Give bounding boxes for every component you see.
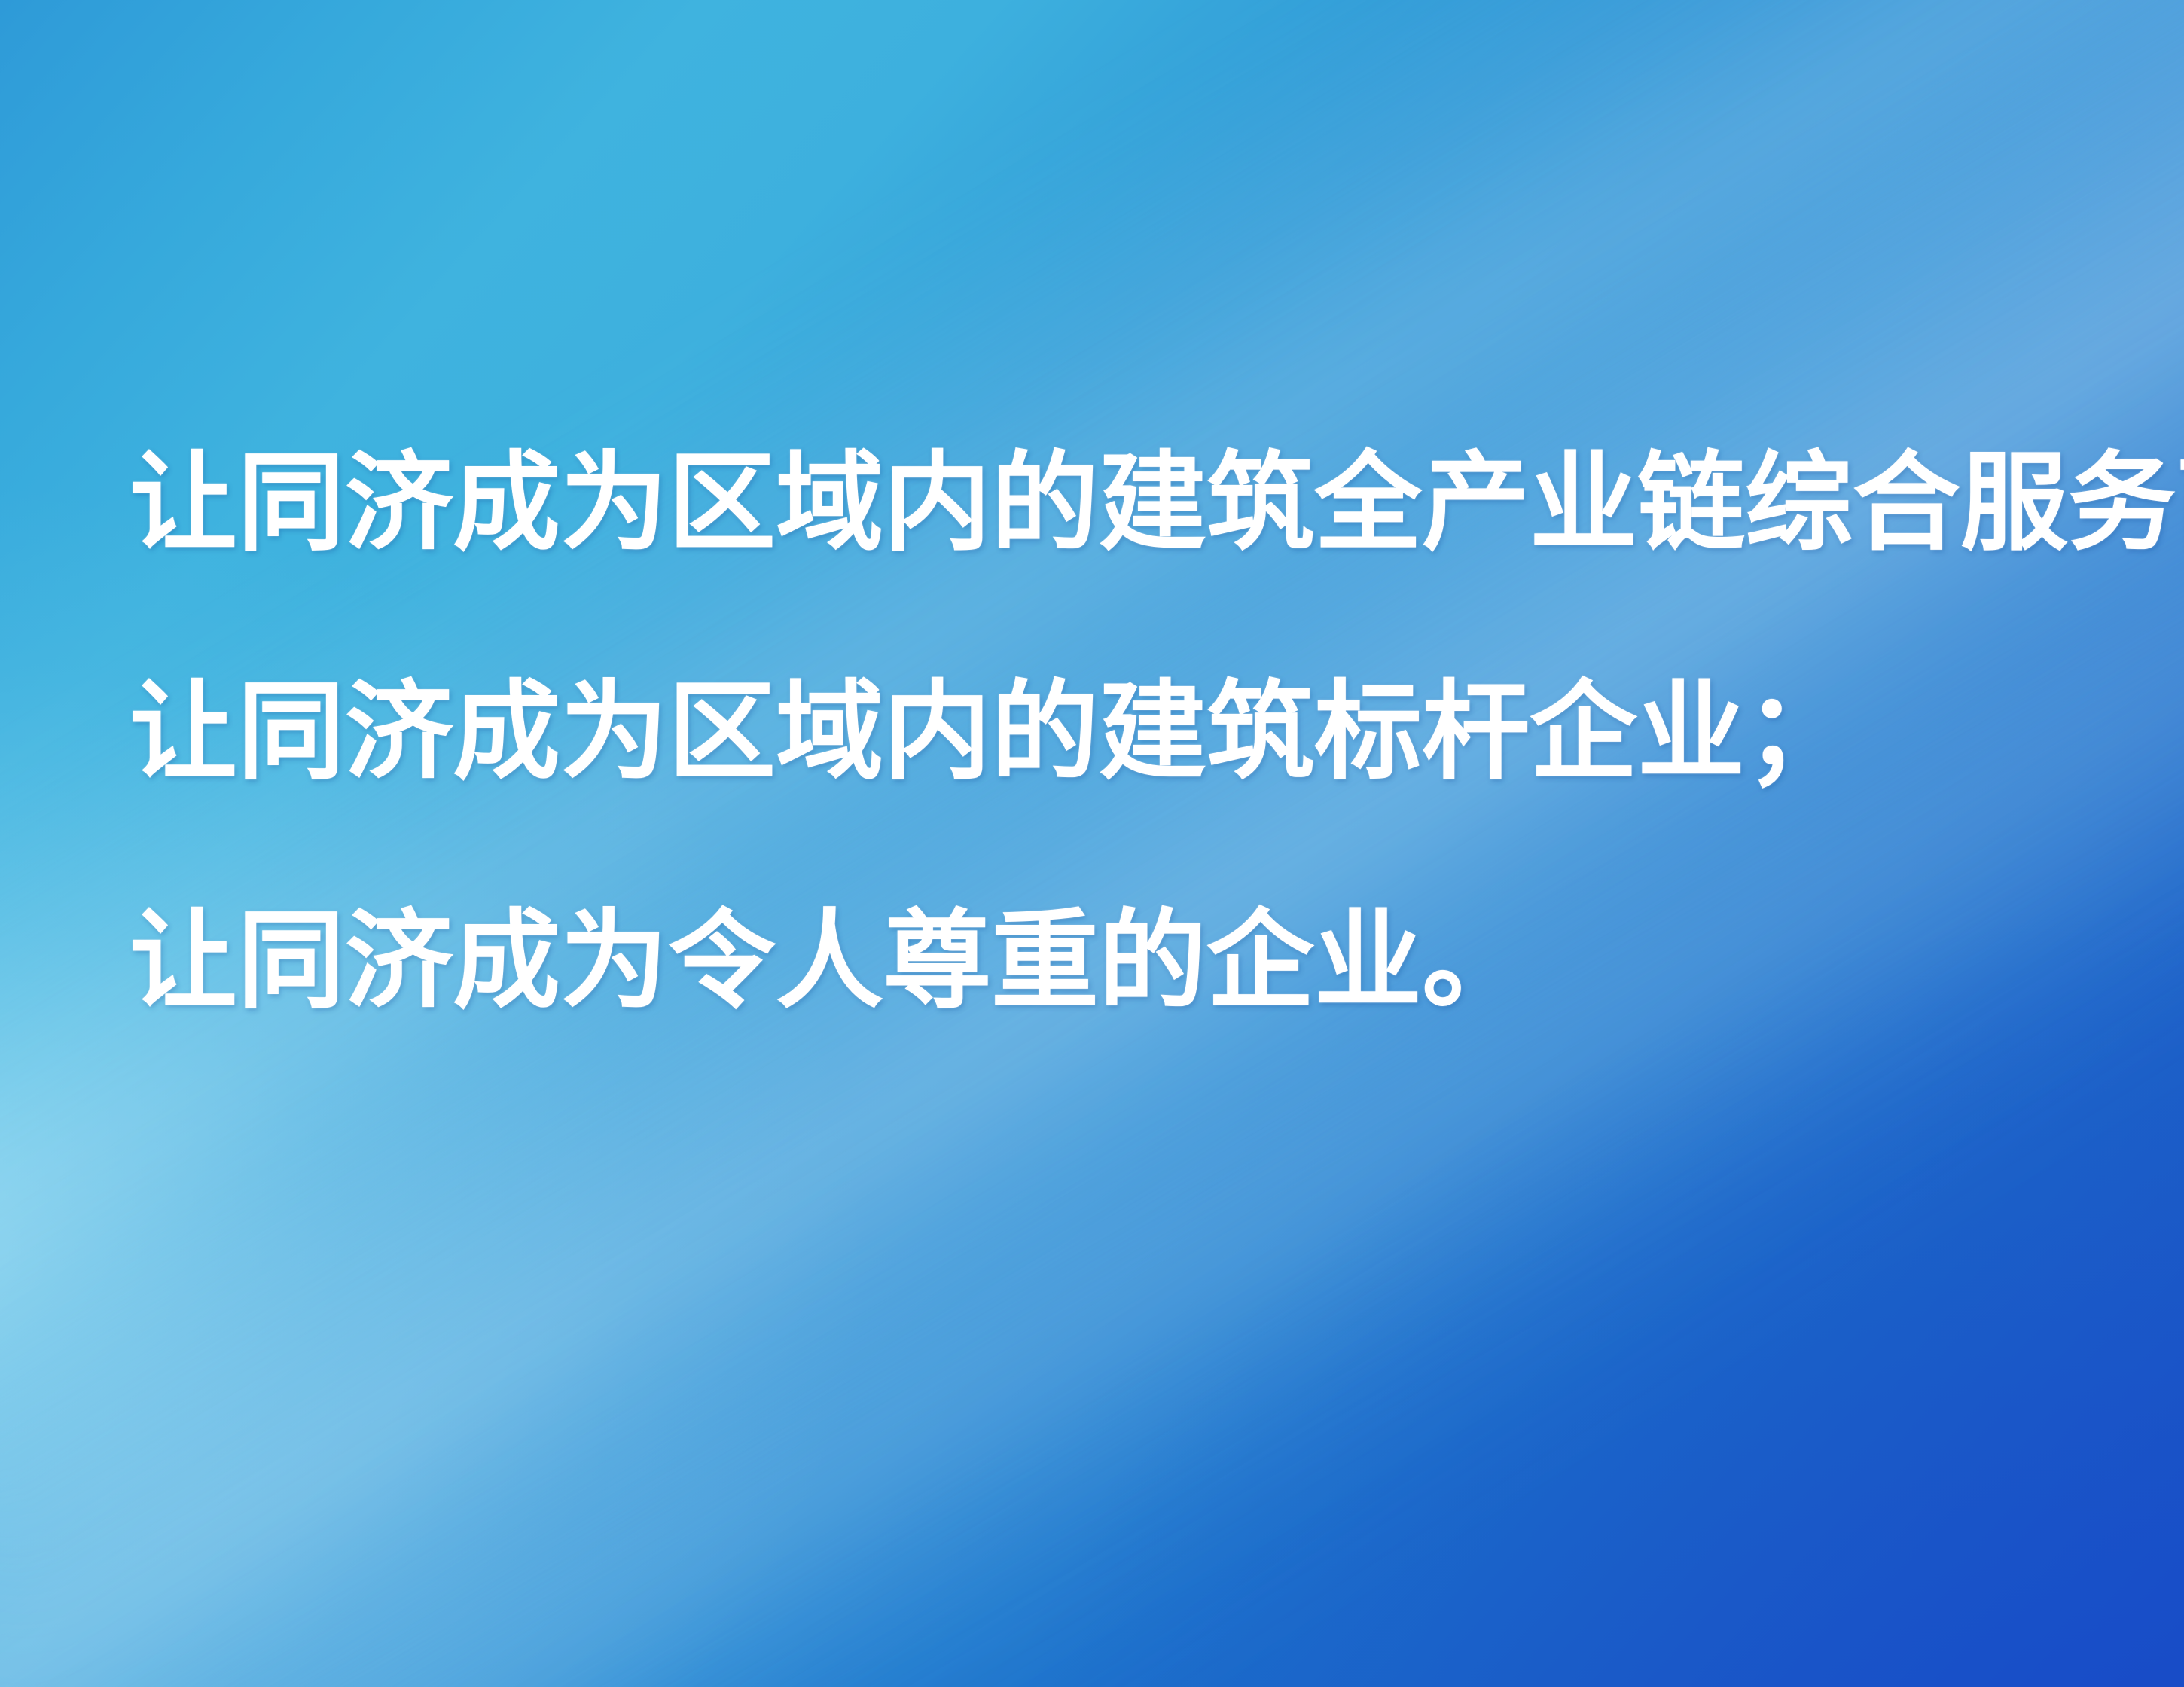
presentation-slide: 让同济成为区域内的建筑全产业链综合服务商； 让同济成为区域内的建筑标杆企业； 让… [0,0,2184,1687]
slide-line-2: 让同济成为区域内的建筑标杆企业； [130,678,2088,786]
slide-text-block: 让同济成为区域内的建筑全产业链综合服务商； 让同济成为区域内的建筑标杆企业； 让… [130,449,2088,1014]
slide-line-3: 让同济成为令人尊重的企业。 [130,907,2088,1014]
slide-line-1: 让同济成为区域内的建筑全产业链综合服务商； [130,449,2088,557]
